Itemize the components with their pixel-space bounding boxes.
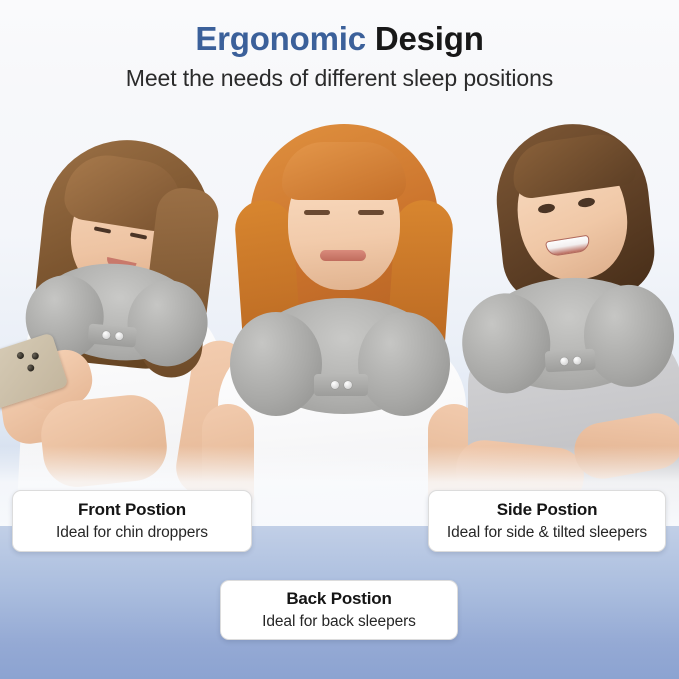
pillow-lobe-left	[230, 312, 322, 416]
page-subtitle: Meet the needs of different sleep positi…	[0, 65, 679, 92]
pillow-snap-button	[573, 356, 581, 364]
heading-block: Ergonomic Design Meet the needs of diffe…	[0, 20, 679, 92]
caption-subtitle: Ideal for side & tilted sleepers	[447, 523, 647, 542]
pillow-snap-tab	[545, 349, 596, 373]
center-girl-neck-pillow	[230, 290, 456, 430]
center-girl-mouth	[320, 250, 366, 261]
title-accent-word: Ergonomic	[195, 20, 366, 57]
caption-card-back-position[interactable]: Back Postion Ideal for back sleepers	[220, 580, 458, 640]
center-girl-eye-left	[304, 210, 330, 215]
pillow-snap-tab	[314, 374, 368, 396]
figure-side-position	[442, 118, 679, 520]
title-plain-word: Design	[375, 20, 484, 57]
caption-title: Side Postion	[497, 500, 598, 520]
pillow-lobe-right	[358, 312, 450, 416]
pillow-snap-tab	[87, 324, 137, 348]
figure-back-position	[196, 108, 484, 520]
pillow-snap-button	[560, 357, 568, 365]
caption-subtitle: Ideal for back sleepers	[262, 612, 416, 631]
phone-camera-lens	[16, 351, 25, 360]
right-girl-neck-pillow	[459, 264, 679, 409]
caption-card-front-position[interactable]: Front Postion Ideal for chin droppers	[12, 490, 252, 552]
phone-camera-lens	[31, 352, 40, 361]
pillow-snap-button	[331, 381, 339, 389]
page-title: Ergonomic Design	[0, 20, 679, 59]
caption-title: Back Postion	[286, 589, 391, 609]
caption-subtitle: Ideal for chin droppers	[56, 523, 208, 542]
pillow-snap-button	[344, 381, 352, 389]
phone-camera-lens	[26, 364, 35, 373]
center-girl-hair-fringe	[282, 142, 406, 200]
left-girl-forearm	[38, 392, 170, 490]
pillow-snap-button	[114, 332, 123, 341]
caption-title: Front Postion	[78, 500, 186, 520]
caption-card-side-position[interactable]: Side Postion Ideal for side & tilted sle…	[428, 490, 666, 552]
photo-band	[0, 100, 679, 520]
center-girl-eye-right	[358, 210, 384, 215]
pillow-snap-button	[101, 331, 110, 340]
product-feature-image: Ergonomic Design Meet the needs of diffe…	[0, 0, 679, 679]
